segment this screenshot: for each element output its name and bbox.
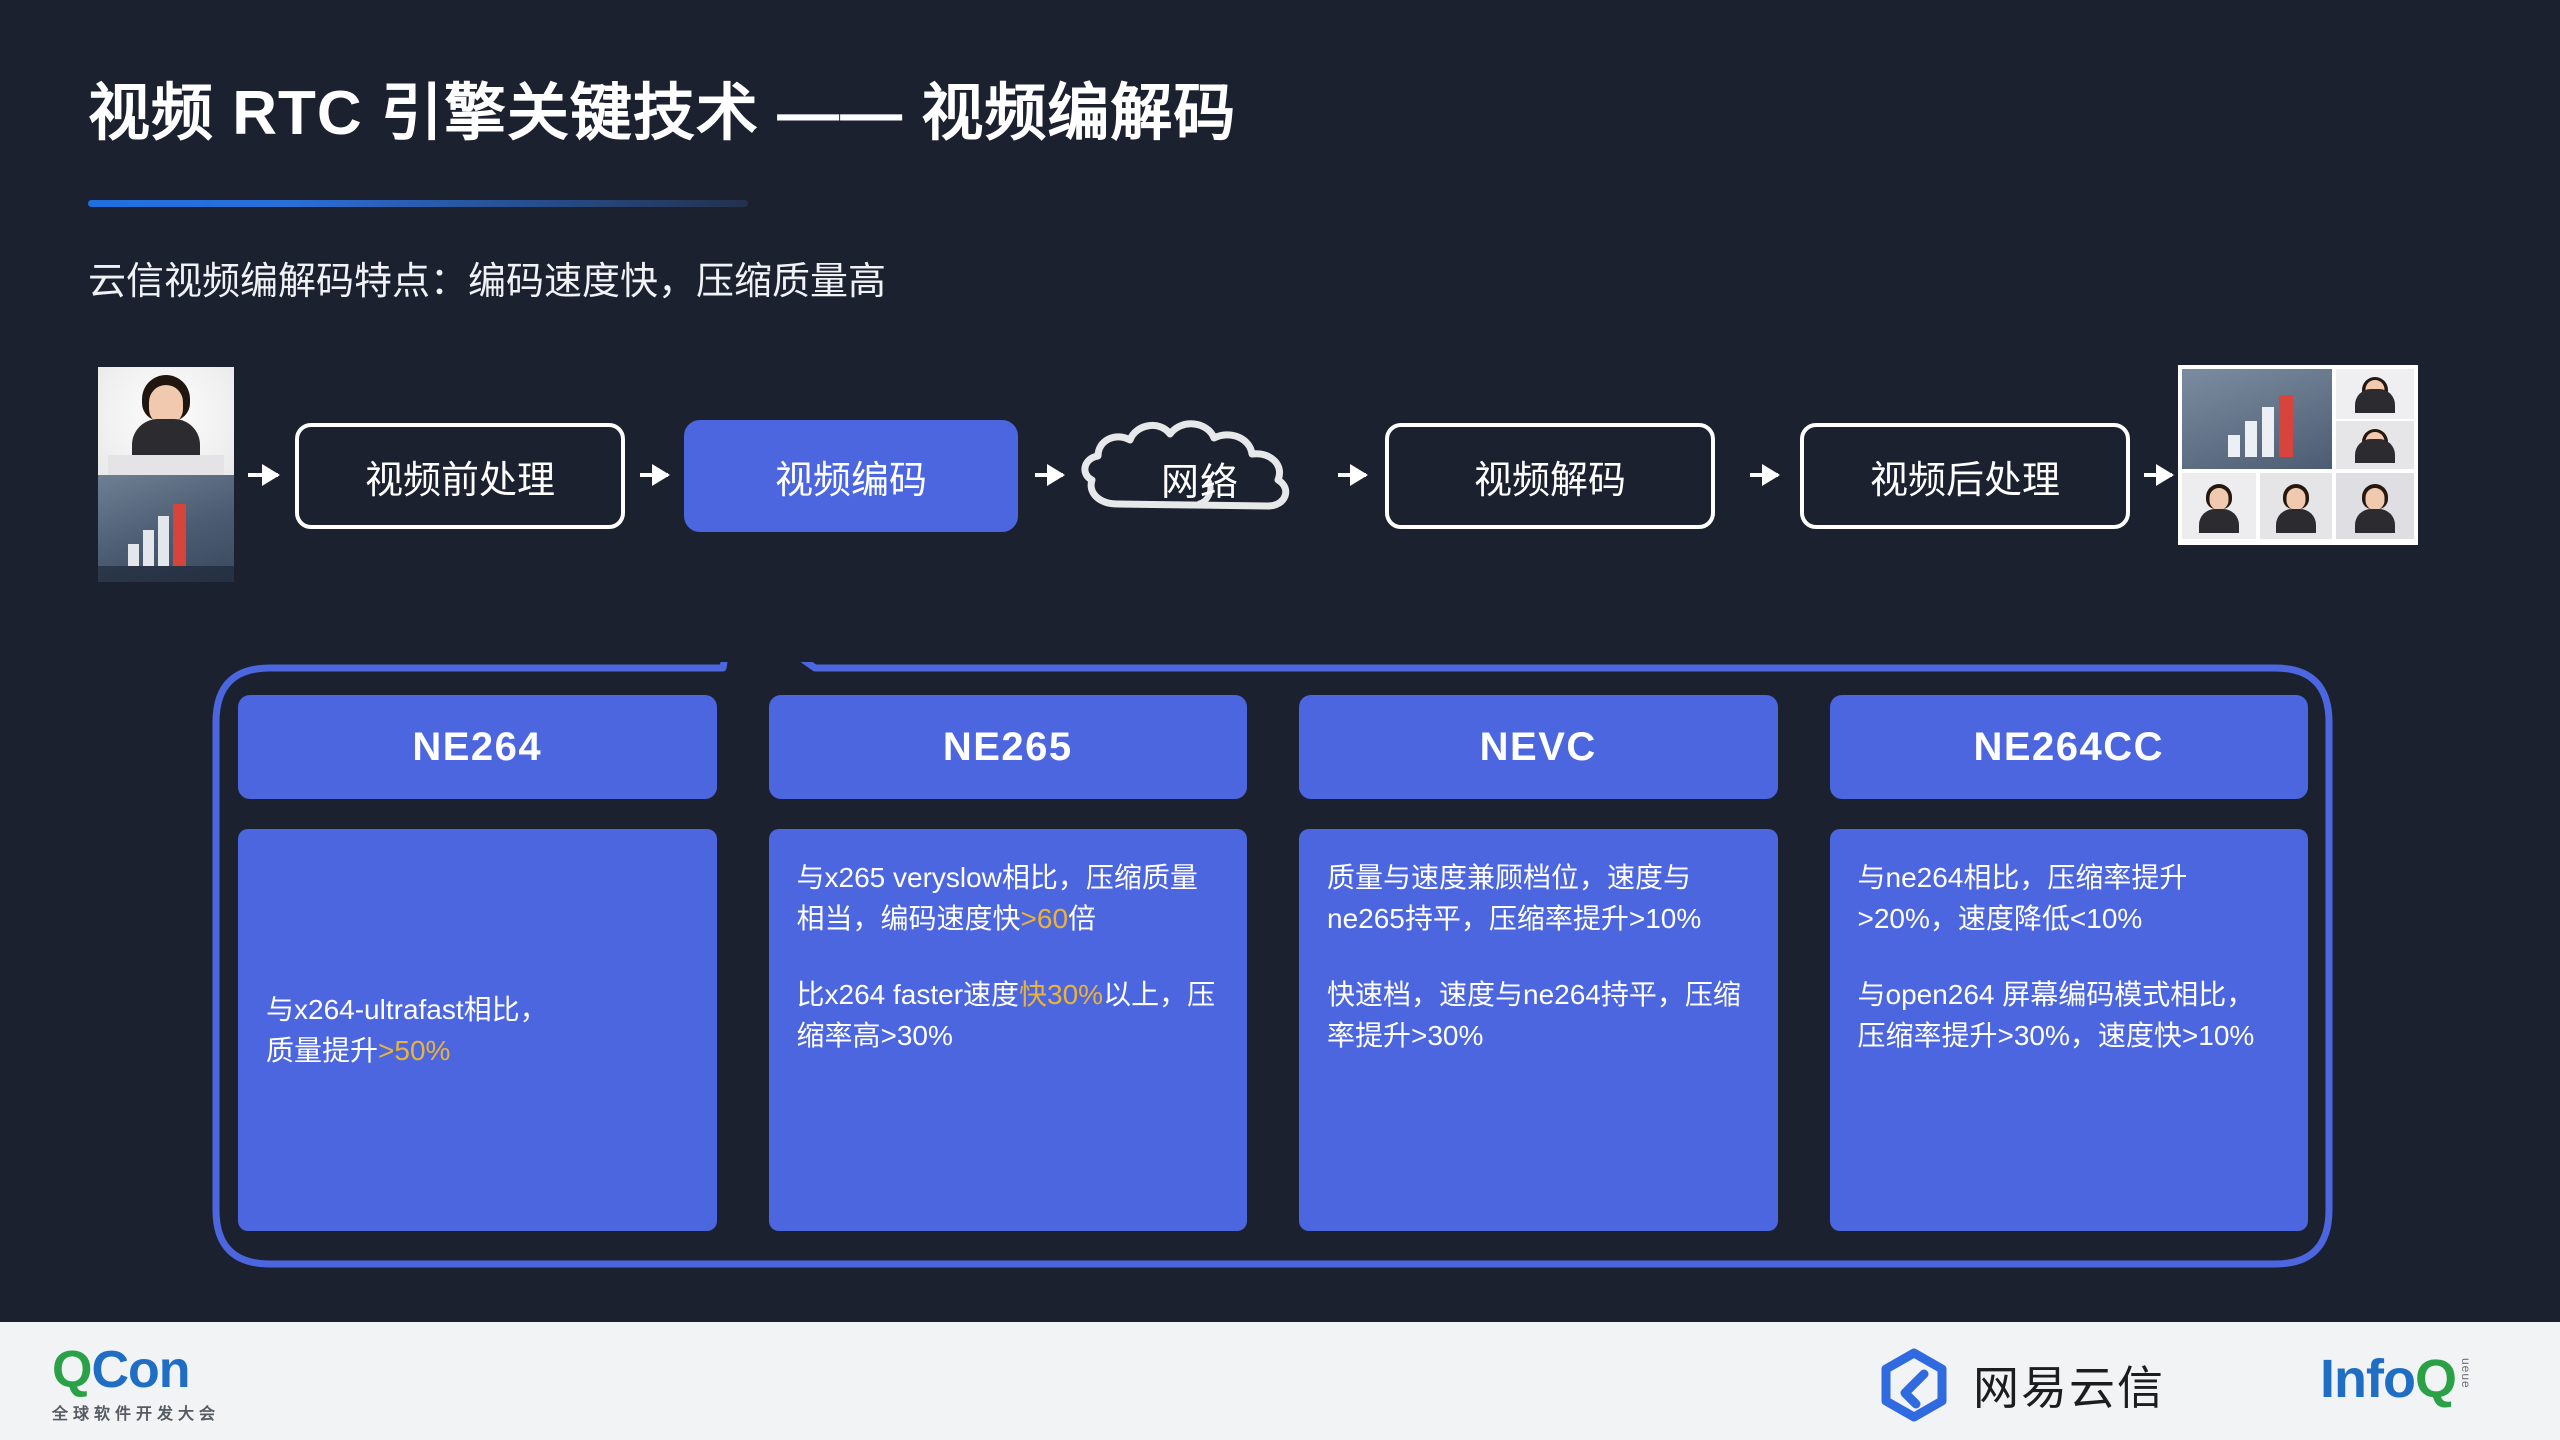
card-paragraph: 与ne264相比，压缩率提升>20%，速度降低<10% bbox=[1858, 857, 2281, 940]
stage-label: 视频编码 bbox=[775, 449, 927, 504]
slide-content-photo bbox=[98, 475, 234, 582]
card-paragraph: 快速档，速度与ne264持平，压缩率提升>30% bbox=[1327, 974, 1750, 1057]
grid-main-tile bbox=[2182, 369, 2332, 469]
participant-face bbox=[2210, 488, 2229, 510]
card-ne265: NE265 与x265 veryslow相比，压缩质量相当，编码速度快>60倍 … bbox=[769, 695, 1248, 1231]
output-video-grid-thumbnail bbox=[2178, 365, 2418, 545]
card-title: NE264 bbox=[238, 695, 717, 799]
qcon-wordmark: QCon bbox=[52, 1344, 220, 1396]
presenter-body bbox=[132, 419, 200, 459]
cloud-label: 网络 bbox=[1058, 408, 1338, 548]
participant-body bbox=[2355, 509, 2395, 533]
grid-tile bbox=[2260, 473, 2332, 539]
chart-bar bbox=[158, 516, 169, 566]
card-paragraph: 与x265 veryslow相比，压缩质量相当，编码速度快>60倍 bbox=[797, 857, 1220, 940]
card-body: 与x265 veryslow相比，压缩质量相当，编码速度快>60倍 比x264 … bbox=[769, 829, 1248, 1231]
slide-canvas: 视频 RTC 引擎关键技术 —— 视频编解码 云信视频编解码特点：编码速度快，压… bbox=[0, 0, 2560, 1440]
card-nevc: NEVC 质量与速度兼顾档位，速度与ne265持平，压缩率提升>10% 快速档，… bbox=[1299, 695, 1778, 1231]
card-title: NEVC bbox=[1299, 695, 1778, 799]
participant-body bbox=[2199, 509, 2239, 533]
presenter-photo bbox=[98, 367, 234, 475]
stage-label: 视频前处理 bbox=[365, 449, 555, 504]
participant-body bbox=[2355, 439, 2395, 463]
arrow-icon bbox=[640, 473, 668, 477]
card-body: 与x264-ultrafast相比，质量提升>50% bbox=[238, 829, 717, 1231]
participant-body bbox=[2276, 509, 2316, 533]
slide-footer: QCon 全球软件开发大会 网易云信 Info Q ueue bbox=[0, 1322, 2560, 1440]
qcon-tagline: 全球软件开发大会 bbox=[52, 1400, 220, 1424]
title-underline-rule bbox=[88, 200, 748, 207]
page-title: 视频 RTC 引擎关键技术 —— 视频编解码 bbox=[88, 62, 1236, 152]
participant-face bbox=[2287, 488, 2306, 510]
yunxin-mark-icon bbox=[1875, 1346, 1953, 1424]
stage-video-postprocess: 视频后处理 bbox=[1800, 423, 2130, 529]
grid-tile bbox=[2182, 473, 2256, 539]
chart-bar bbox=[173, 504, 186, 566]
codec-callout-panel: NE264 与x264-ultrafast相比，质量提升>50% NE265 与… bbox=[210, 662, 2335, 1270]
qcon-q-letter: Q bbox=[52, 1341, 91, 1399]
infoq-q-letter: Q bbox=[2415, 1352, 2457, 1406]
stage-video-preprocess: 视频前处理 bbox=[295, 423, 625, 529]
card-paragraph: 比x264 faster速度快30%以上，压缩率高>30% bbox=[797, 974, 1220, 1057]
stage-label: 视频后处理 bbox=[1870, 449, 2060, 504]
source-video-thumbnail bbox=[98, 367, 234, 582]
card-paragraph: 与x264-ultrafast相比，质量提升>50% bbox=[266, 989, 689, 1072]
codec-card-list: NE264 与x264-ultrafast相比，质量提升>50% NE265 与… bbox=[238, 695, 2308, 1231]
highlight-metric: >60 bbox=[1021, 903, 1069, 934]
highlight-metric: >50% bbox=[378, 1035, 450, 1066]
participant-body bbox=[2355, 389, 2395, 413]
chart-bar bbox=[2279, 395, 2293, 457]
card-body: 与ne264相比，压缩率提升>20%，速度降低<10% 与open264 屏幕编… bbox=[1830, 829, 2309, 1231]
skyline bbox=[98, 566, 234, 582]
participant-face bbox=[2366, 488, 2385, 510]
grid-tile bbox=[2336, 369, 2414, 419]
grid-tile bbox=[2336, 421, 2414, 469]
infoq-ueue-text: ueue bbox=[2459, 1358, 2473, 1389]
stage-video-decode: 视频解码 bbox=[1385, 423, 1715, 529]
yunxin-logo: 网易云信 bbox=[1875, 1346, 2165, 1424]
presenter-desk bbox=[108, 455, 224, 475]
card-body: 质量与速度兼顾档位，速度与ne265持平，压缩率提升>10% 快速档，速度与ne… bbox=[1299, 829, 1778, 1231]
card-ne264: NE264 与x264-ultrafast相比，质量提升>50% bbox=[238, 695, 717, 1231]
chart-bar bbox=[2228, 435, 2240, 457]
arrow-icon bbox=[2144, 473, 2172, 477]
pipeline-diagram: 视频前处理 视频编码 网络 视频解码 视频后处理 bbox=[0, 360, 2560, 600]
page-subtitle: 云信视频编解码特点：编码速度快，压缩质量高 bbox=[88, 250, 886, 305]
infoq-logo: Info Q ueue bbox=[2320, 1352, 2473, 1406]
arrow-icon bbox=[1750, 473, 1778, 477]
stage-video-encode: 视频编码 bbox=[684, 420, 1018, 532]
arrow-icon bbox=[248, 473, 278, 477]
qcon-logo: QCon 全球软件开发大会 bbox=[52, 1344, 220, 1424]
card-paragraph: 与open264 屏幕编码模式相比，压缩率提升>30%，速度快>10% bbox=[1858, 974, 2281, 1057]
arrow-icon bbox=[1338, 473, 1366, 477]
stage-label: 视频解码 bbox=[1474, 449, 1626, 504]
chart-bar bbox=[2262, 407, 2274, 457]
yunxin-wordmark: 网易云信 bbox=[1973, 1352, 2165, 1418]
network-cloud-icon: 网络 bbox=[1058, 408, 1338, 548]
grid-tile bbox=[2336, 473, 2414, 539]
card-ne264cc: NE264CC 与ne264相比，压缩率提升>20%，速度降低<10% 与ope… bbox=[1830, 695, 2309, 1231]
card-title: NE264CC bbox=[1830, 695, 2309, 799]
card-paragraph: 质量与速度兼顾档位，速度与ne265持平，压缩率提升>10% bbox=[1327, 857, 1750, 940]
highlight-metric: 快30% bbox=[1019, 979, 1103, 1010]
card-title: NE265 bbox=[769, 695, 1248, 799]
qcon-con-letters: Con bbox=[91, 1341, 189, 1399]
chart-bar bbox=[128, 544, 139, 566]
infoq-info-text: Info bbox=[2320, 1352, 2415, 1406]
chart-bar bbox=[2245, 421, 2257, 457]
chart-bar bbox=[143, 530, 154, 566]
